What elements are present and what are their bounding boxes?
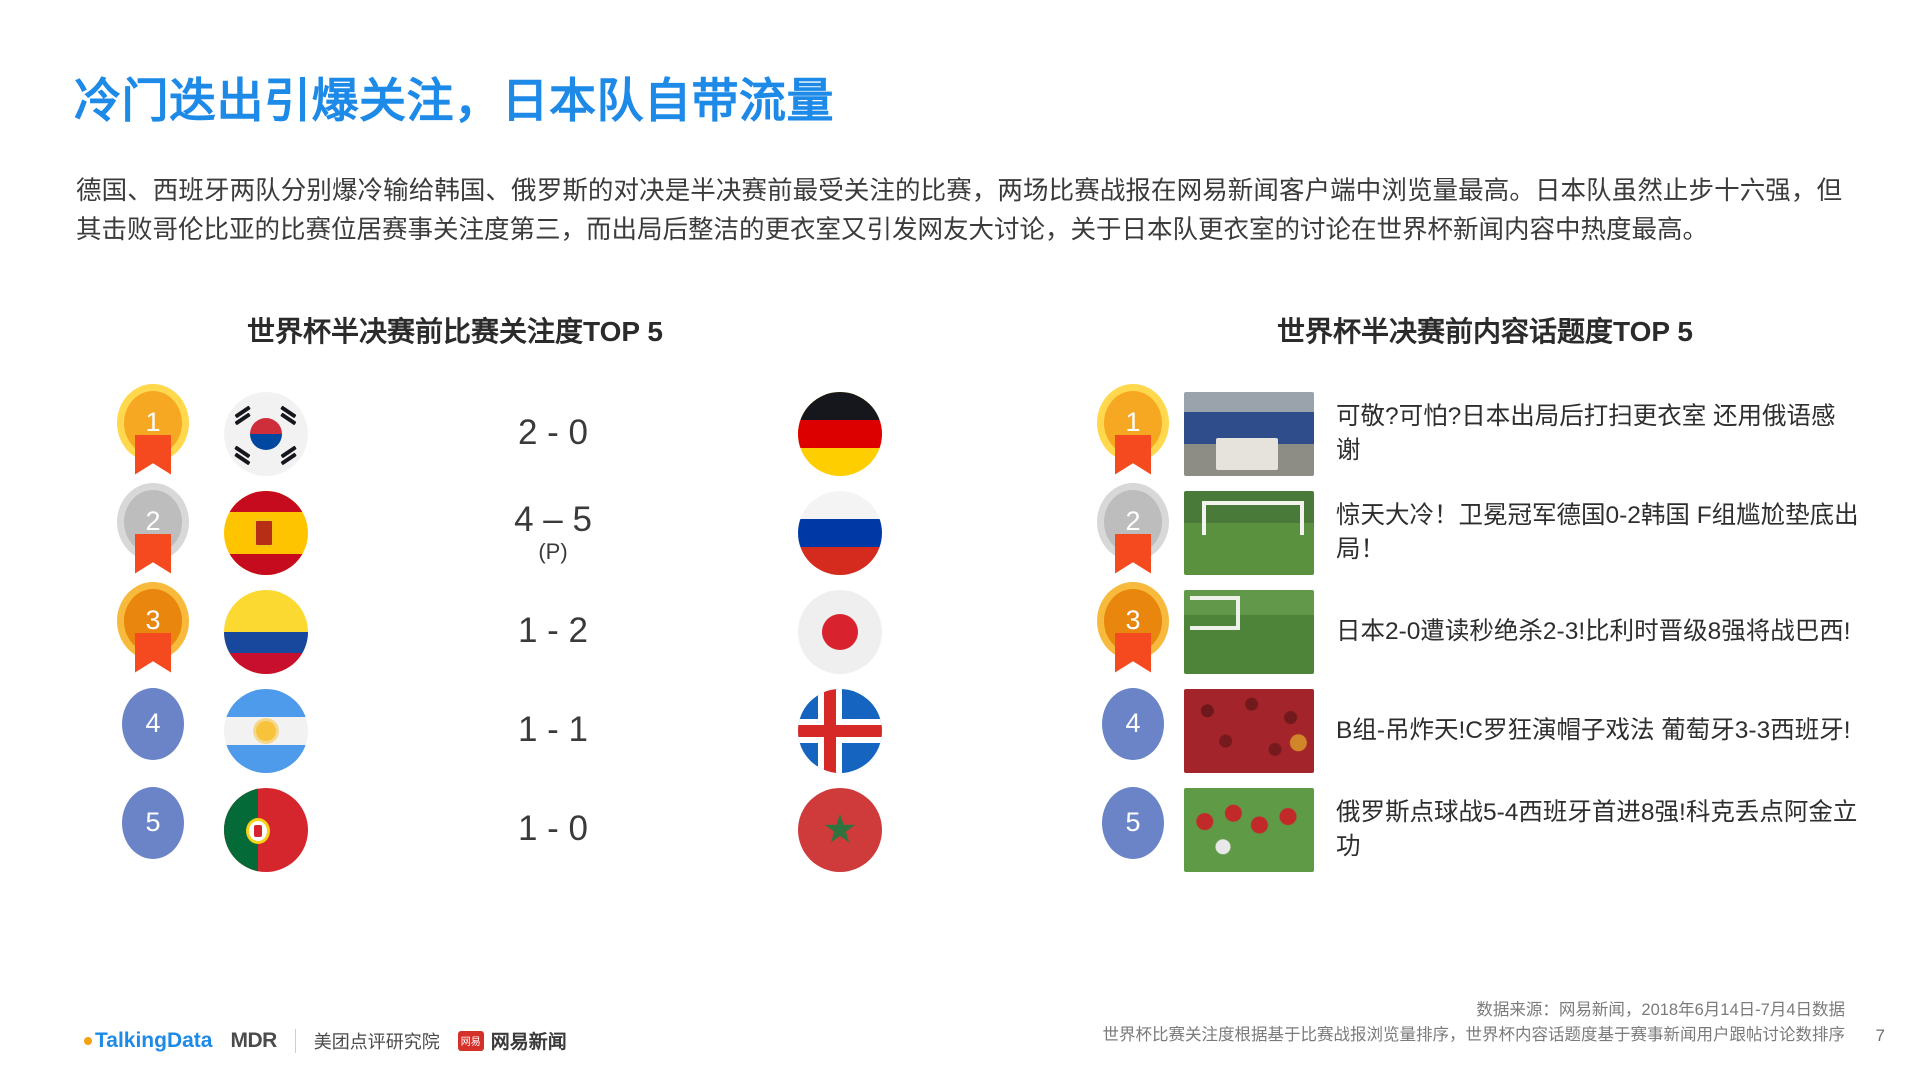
ribbon-icon <box>135 435 171 475</box>
netease-news-logo: 网易 网易新闻 <box>458 1027 567 1054</box>
score-cell: 1 - 1 <box>346 712 760 749</box>
score-value: 1 - 0 <box>518 809 588 848</box>
score-value: 4 – 5 <box>514 500 592 539</box>
list-item[interactable]: 2 惊天大冷！卫冕冠军德国0-2韩国 F组尴尬垫底出局！ <box>1100 483 1860 582</box>
meituan-logo-text: 美团点评研究院 <box>314 1028 440 1054</box>
table-row[interactable]: 3 1 - 2 <box>120 582 920 681</box>
news-title: 可敬?可怕?日本出局后打扫更衣室 还用俄语感谢 <box>1336 400 1860 468</box>
list-item[interactable]: 4 B组-吊炸天!C罗狂演帽子戏法 葡萄牙3-3西班牙! <box>1100 681 1860 780</box>
rank-badge-4: 4 <box>1100 688 1166 774</box>
left-panel: 世界杯半决赛前比赛关注度TOP 5 1 <box>120 310 920 879</box>
netease-mark-icon: 网易 <box>458 1031 484 1051</box>
japan-flag-icon <box>798 590 882 674</box>
ribbon-icon <box>135 633 171 673</box>
rank-number: 5 <box>1102 787 1164 859</box>
home-flag-cell <box>186 392 346 476</box>
table-row[interactable]: 2 4 – 5 (P) <box>120 483 920 582</box>
right-panel-heading: 世界杯半决赛前内容话题度TOP 5 <box>1100 310 1860 350</box>
page-description: 德国、西班牙两队分别爆冷输给韩国、俄罗斯的对决是半决赛前最受关注的比赛，两场比赛… <box>76 172 1842 250</box>
germany-flag-icon <box>798 392 882 476</box>
score-cell: 4 – 5 (P) <box>346 502 760 564</box>
table-row[interactable]: 1 2 - 0 <box>120 384 920 483</box>
news-title: 日本2-0遭读秒绝杀2-3!比利时晋级8强将战巴西! <box>1336 615 1860 649</box>
rank-number: 4 <box>1102 688 1164 760</box>
news-thumbnail[interactable] <box>1184 491 1314 575</box>
home-flag-cell <box>186 491 346 575</box>
away-flag-cell <box>760 491 920 575</box>
spain-flag-icon <box>224 491 308 575</box>
talkingdata-logo-text: TalkingData <box>95 1029 212 1053</box>
ribbon-icon <box>1115 633 1151 673</box>
russia-flag-icon <box>798 491 882 575</box>
mdr-logo-text: MDR <box>230 1029 276 1053</box>
rank-badge-2: 2 <box>1100 490 1166 576</box>
talkingdata-logo: TalkingData <box>84 1029 212 1053</box>
right-panel: 世界杯半决赛前内容话题度TOP 5 1 可敬?可怕?日本出局后打扫更衣室 还用俄… <box>1100 310 1860 879</box>
rank-badge-3: 3 <box>120 589 186 675</box>
away-flag-cell <box>760 788 920 872</box>
score-cell: 1 - 2 <box>346 613 760 650</box>
rank-badge-1: 1 <box>1100 391 1166 477</box>
away-flag-cell <box>760 392 920 476</box>
away-flag-cell <box>760 590 920 674</box>
source-line-2: 世界杯比赛关注度根据基于比赛战报浏览量排序，世界杯内容话题度基于赛事新闻用户跟帖… <box>645 1023 1845 1048</box>
score-note: (P) <box>346 540 760 563</box>
page-number: 7 <box>1876 1026 1885 1046</box>
logo-divider <box>295 1029 296 1053</box>
rank-badge-5: 5 <box>120 787 186 873</box>
ribbon-icon <box>1115 534 1151 574</box>
news-title: 俄罗斯点球战5-4西班牙首进8强!科克丢点阿金立功 <box>1336 796 1860 864</box>
iceland-flag-icon <box>798 689 882 773</box>
rank-badge-2: 2 <box>120 490 186 576</box>
footer-logos: TalkingData MDR 美团点评研究院 网易 网易新闻 <box>84 1027 567 1054</box>
source-note: 数据来源：网易新闻，2018年6月14日-7月4日数据 世界杯比赛关注度根据基于… <box>645 998 1845 1048</box>
left-panel-heading: 世界杯半决赛前比赛关注度TOP 5 <box>120 310 920 350</box>
page-title: 冷门迭出引爆关注，日本队自带流量 <box>74 62 834 131</box>
rank-badge-5: 5 <box>1100 787 1166 873</box>
news-thumbnail[interactable] <box>1184 590 1314 674</box>
source-line-1: 数据来源：网易新闻，2018年6月14日-7月4日数据 <box>645 998 1845 1023</box>
slide-root: 冷门迭出引爆关注，日本队自带流量 德国、西班牙两队分别爆冷输给韩国、俄罗斯的对决… <box>0 0 1921 1080</box>
list-item[interactable]: 5 俄罗斯点球战5-4西班牙首进8强!科克丢点阿金立功 <box>1100 780 1860 879</box>
score-value: 1 - 2 <box>518 611 588 650</box>
rank-badge-1: 1 <box>120 391 186 477</box>
rank-number: 4 <box>122 688 184 760</box>
rank-badge-3: 3 <box>1100 589 1166 675</box>
morocco-flag-icon <box>798 788 882 872</box>
home-flag-cell <box>186 590 346 674</box>
score-cell: 1 - 0 <box>346 811 760 848</box>
rank-badge-4: 4 <box>120 688 186 774</box>
score-cell: 2 - 0 <box>346 415 760 452</box>
news-title: B组-吊炸天!C罗狂演帽子戏法 葡萄牙3-3西班牙! <box>1336 714 1860 748</box>
ribbon-icon <box>135 534 171 574</box>
colombia-flag-icon <box>224 590 308 674</box>
korea-flag-icon <box>224 392 308 476</box>
score-value: 1 - 1 <box>518 710 588 749</box>
home-flag-cell <box>186 788 346 872</box>
list-item[interactable]: 3 日本2-0遭读秒绝杀2-3!比利时晋级8强将战巴西! <box>1100 582 1860 681</box>
table-row[interactable]: 4 1 - 1 <box>120 681 920 780</box>
ribbon-icon <box>1115 435 1151 475</box>
talkingdata-dot-icon <box>84 1037 92 1045</box>
netease-logo-text: 网易新闻 <box>491 1027 567 1054</box>
away-flag-cell <box>760 689 920 773</box>
table-row[interactable]: 5 1 - 0 <box>120 780 920 879</box>
news-title: 惊天大冷！卫冕冠军德国0-2韩国 F组尴尬垫底出局！ <box>1336 499 1860 567</box>
news-thumbnail[interactable] <box>1184 392 1314 476</box>
home-flag-cell <box>186 689 346 773</box>
rank-number: 5 <box>122 787 184 859</box>
news-thumbnail[interactable] <box>1184 788 1314 872</box>
news-thumbnail[interactable] <box>1184 689 1314 773</box>
score-value: 2 - 0 <box>518 413 588 452</box>
portugal-flag-icon <box>224 788 308 872</box>
list-item[interactable]: 1 可敬?可怕?日本出局后打扫更衣室 还用俄语感谢 <box>1100 384 1860 483</box>
argentina-flag-icon <box>224 689 308 773</box>
